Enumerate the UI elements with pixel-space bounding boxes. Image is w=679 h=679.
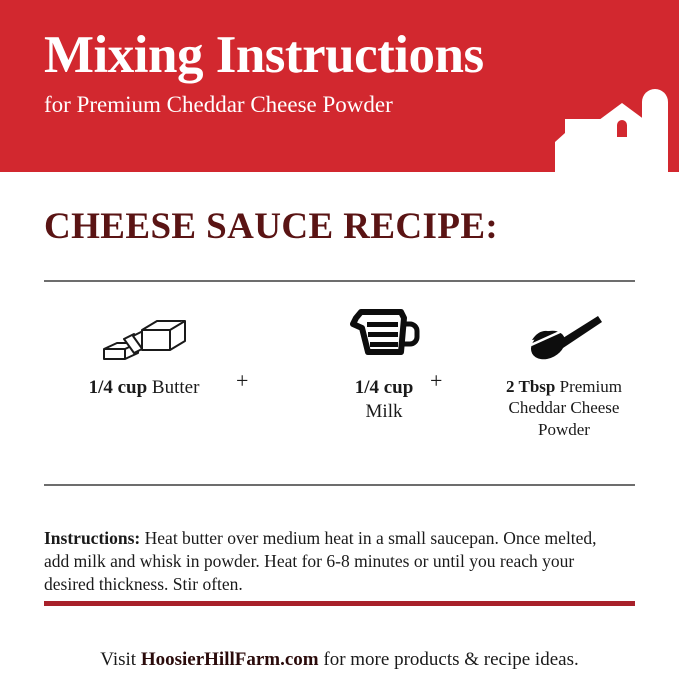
footer-website-link[interactable]: HoosierHillFarm.com — [141, 649, 319, 670]
header-banner: Mixing Instructions for Premium Cheddar … — [0, 0, 679, 172]
measuring-cup-icon-wrap — [284, 300, 484, 362]
plus-separator-1: + — [236, 370, 248, 392]
footer-text: Visit HoosierHillFarm.com for more produ… — [0, 649, 679, 671]
butter-stick-icon — [100, 312, 188, 362]
divider-bottom — [44, 484, 635, 486]
page-title: Mixing Instructions — [44, 28, 544, 83]
ingredient-milk-amount: 1/4 cup — [355, 377, 414, 398]
ingredient-cheese-powder: 2 Tbsp Premium Cheddar Cheese Powder — [464, 300, 664, 440]
instructions-paragraph: Instructions: Heat butter over medium he… — [44, 527, 624, 597]
instructions-lead: Instructions: — [44, 528, 140, 548]
mixing-instructions-infographic: Mixing Instructions for Premium Cheddar … — [0, 0, 679, 679]
recipe-title: CHEESE SAUCE RECIPE: — [44, 205, 498, 248]
butter-stick-icon-wrap — [44, 300, 244, 362]
ingredient-cheese-powder-amount: 2 Tbsp — [506, 377, 555, 396]
divider-top — [44, 280, 635, 282]
ingredient-butter-amount: 1/4 cup — [89, 377, 148, 398]
ingredient-butter-name: Butter — [152, 377, 200, 398]
spoon-powder-icon-wrap — [464, 300, 664, 362]
ingredient-milk-name: Milk — [366, 401, 403, 422]
ingredient-butter: 1/4 cup Butter — [44, 300, 244, 400]
ingredient-cheese-powder-label: 2 Tbsp Premium Cheddar Cheese Powder — [484, 376, 644, 440]
barn-silo-icon — [549, 80, 679, 172]
ingredient-milk: 1/4 cup Milk — [284, 300, 484, 424]
measuring-cup-icon — [348, 304, 420, 362]
ingredient-butter-label: 1/4 cup Butter — [44, 376, 244, 400]
header-text-group: Mixing Instructions for Premium Cheddar … — [44, 28, 544, 119]
spoon-powder-icon — [524, 312, 604, 362]
plus-separator-2: + — [430, 370, 442, 392]
footer-suffix: for more products & recipe ideas. — [323, 649, 578, 670]
footer-rule — [44, 601, 635, 606]
ingredients-row: 1/4 cup Butter + 1/4 cup — [44, 300, 635, 470]
page-subtitle: for Premium Cheddar Cheese Powder — [44, 91, 544, 119]
footer-prefix: Visit — [100, 649, 136, 670]
